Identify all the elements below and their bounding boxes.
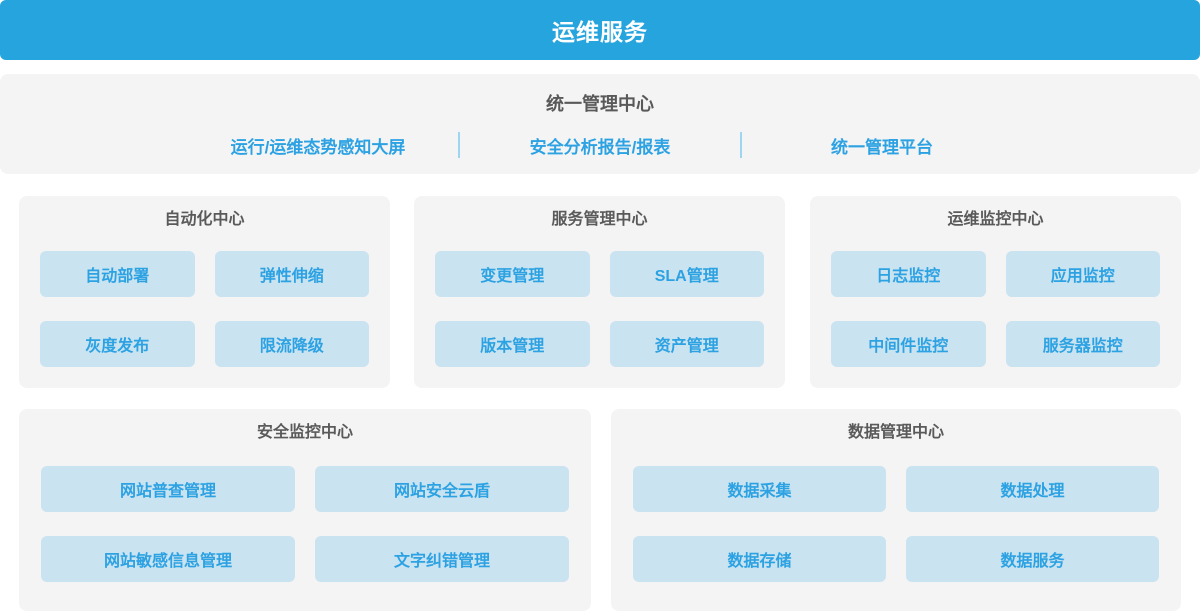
- link-situational-awareness-dashboard[interactable]: 运行/运维态势感知大屏: [178, 133, 458, 158]
- panel-security-monitoring-center: 安全监控中心 网站普查管理 网站安全云盾 网站敏感信息管理 文字纠错管理: [19, 409, 591, 611]
- chip-grid-automation-center: 自动部署 弹性伸缩 灰度发布 限流降级: [40, 251, 369, 367]
- chip-auto-deploy[interactable]: 自动部署: [40, 251, 195, 297]
- link-security-analysis-report[interactable]: 安全分析报告/报表: [460, 133, 740, 158]
- banner-ops-service: 运维服务: [0, 0, 1200, 60]
- link-unified-management-platform[interactable]: 统一管理平台: [742, 133, 1022, 158]
- chip-grid-ops-monitoring-center: 日志监控 应用监控 中间件监控 服务器监控: [831, 251, 1160, 367]
- panel-service-management-center: 服务管理中心 变更管理 SLA管理 版本管理 资产管理: [414, 196, 785, 388]
- panel-title-data-management-center: 数据管理中心: [633, 423, 1159, 443]
- chip-gray-release[interactable]: 灰度发布: [40, 321, 195, 367]
- banner-title: 运维服务: [552, 13, 648, 47]
- chip-application-monitoring[interactable]: 应用监控: [1006, 251, 1161, 297]
- chip-website-sensitive-info-management[interactable]: 网站敏感信息管理: [41, 536, 295, 582]
- chip-text-proofreading-management[interactable]: 文字纠错管理: [315, 536, 569, 582]
- chip-elastic-scaling[interactable]: 弹性伸缩: [215, 251, 370, 297]
- chip-grid-service-management-center: 变更管理 SLA管理 版本管理 资产管理: [435, 251, 764, 367]
- panel-title-service-management-center: 服务管理中心: [435, 210, 764, 230]
- chip-server-monitoring[interactable]: 服务器监控: [1006, 321, 1161, 367]
- panel-title-security-monitoring-center: 安全监控中心: [41, 423, 569, 443]
- chip-data-collection[interactable]: 数据采集: [633, 466, 886, 512]
- panel-title-automation-center: 自动化中心: [40, 210, 369, 230]
- chip-log-monitoring[interactable]: 日志监控: [831, 251, 986, 297]
- unified-management-center-links: 运行/运维态势感知大屏 安全分析报告/报表 统一管理平台: [0, 132, 1200, 158]
- chip-grid-data-management-center: 数据采集 数据处理 数据存储 数据服务: [633, 466, 1159, 582]
- chip-website-security-cloud-shield[interactable]: 网站安全云盾: [315, 466, 569, 512]
- chip-data-processing[interactable]: 数据处理: [906, 466, 1159, 512]
- unified-management-center-title: 统一管理中心: [0, 92, 1200, 116]
- panel-title-ops-monitoring-center: 运维监控中心: [831, 210, 1160, 230]
- panel-ops-monitoring-center: 运维监控中心 日志监控 应用监控 中间件监控 服务器监控: [810, 196, 1181, 388]
- chip-data-service[interactable]: 数据服务: [906, 536, 1159, 582]
- panel-data-management-center: 数据管理中心 数据采集 数据处理 数据存储 数据服务: [611, 409, 1181, 611]
- panel-automation-center: 自动化中心 自动部署 弹性伸缩 灰度发布 限流降级: [19, 196, 390, 388]
- chip-data-storage[interactable]: 数据存储: [633, 536, 886, 582]
- ops-service-architecture-diagram: 运维服务 统一管理中心 运行/运维态势感知大屏 安全分析报告/报表 统一管理平台…: [0, 0, 1200, 602]
- chip-sla-management[interactable]: SLA管理: [610, 251, 765, 297]
- unified-management-center-band: 统一管理中心 运行/运维态势感知大屏 安全分析报告/报表 统一管理平台: [0, 74, 1200, 174]
- chip-rate-limit-degrade[interactable]: 限流降级: [215, 321, 370, 367]
- chip-version-management[interactable]: 版本管理: [435, 321, 590, 367]
- chip-website-census-management[interactable]: 网站普查管理: [41, 466, 295, 512]
- chip-change-management[interactable]: 变更管理: [435, 251, 590, 297]
- chip-middleware-monitoring[interactable]: 中间件监控: [831, 321, 986, 367]
- chip-grid-security-monitoring-center: 网站普查管理 网站安全云盾 网站敏感信息管理 文字纠错管理: [41, 466, 569, 582]
- chip-asset-management[interactable]: 资产管理: [610, 321, 765, 367]
